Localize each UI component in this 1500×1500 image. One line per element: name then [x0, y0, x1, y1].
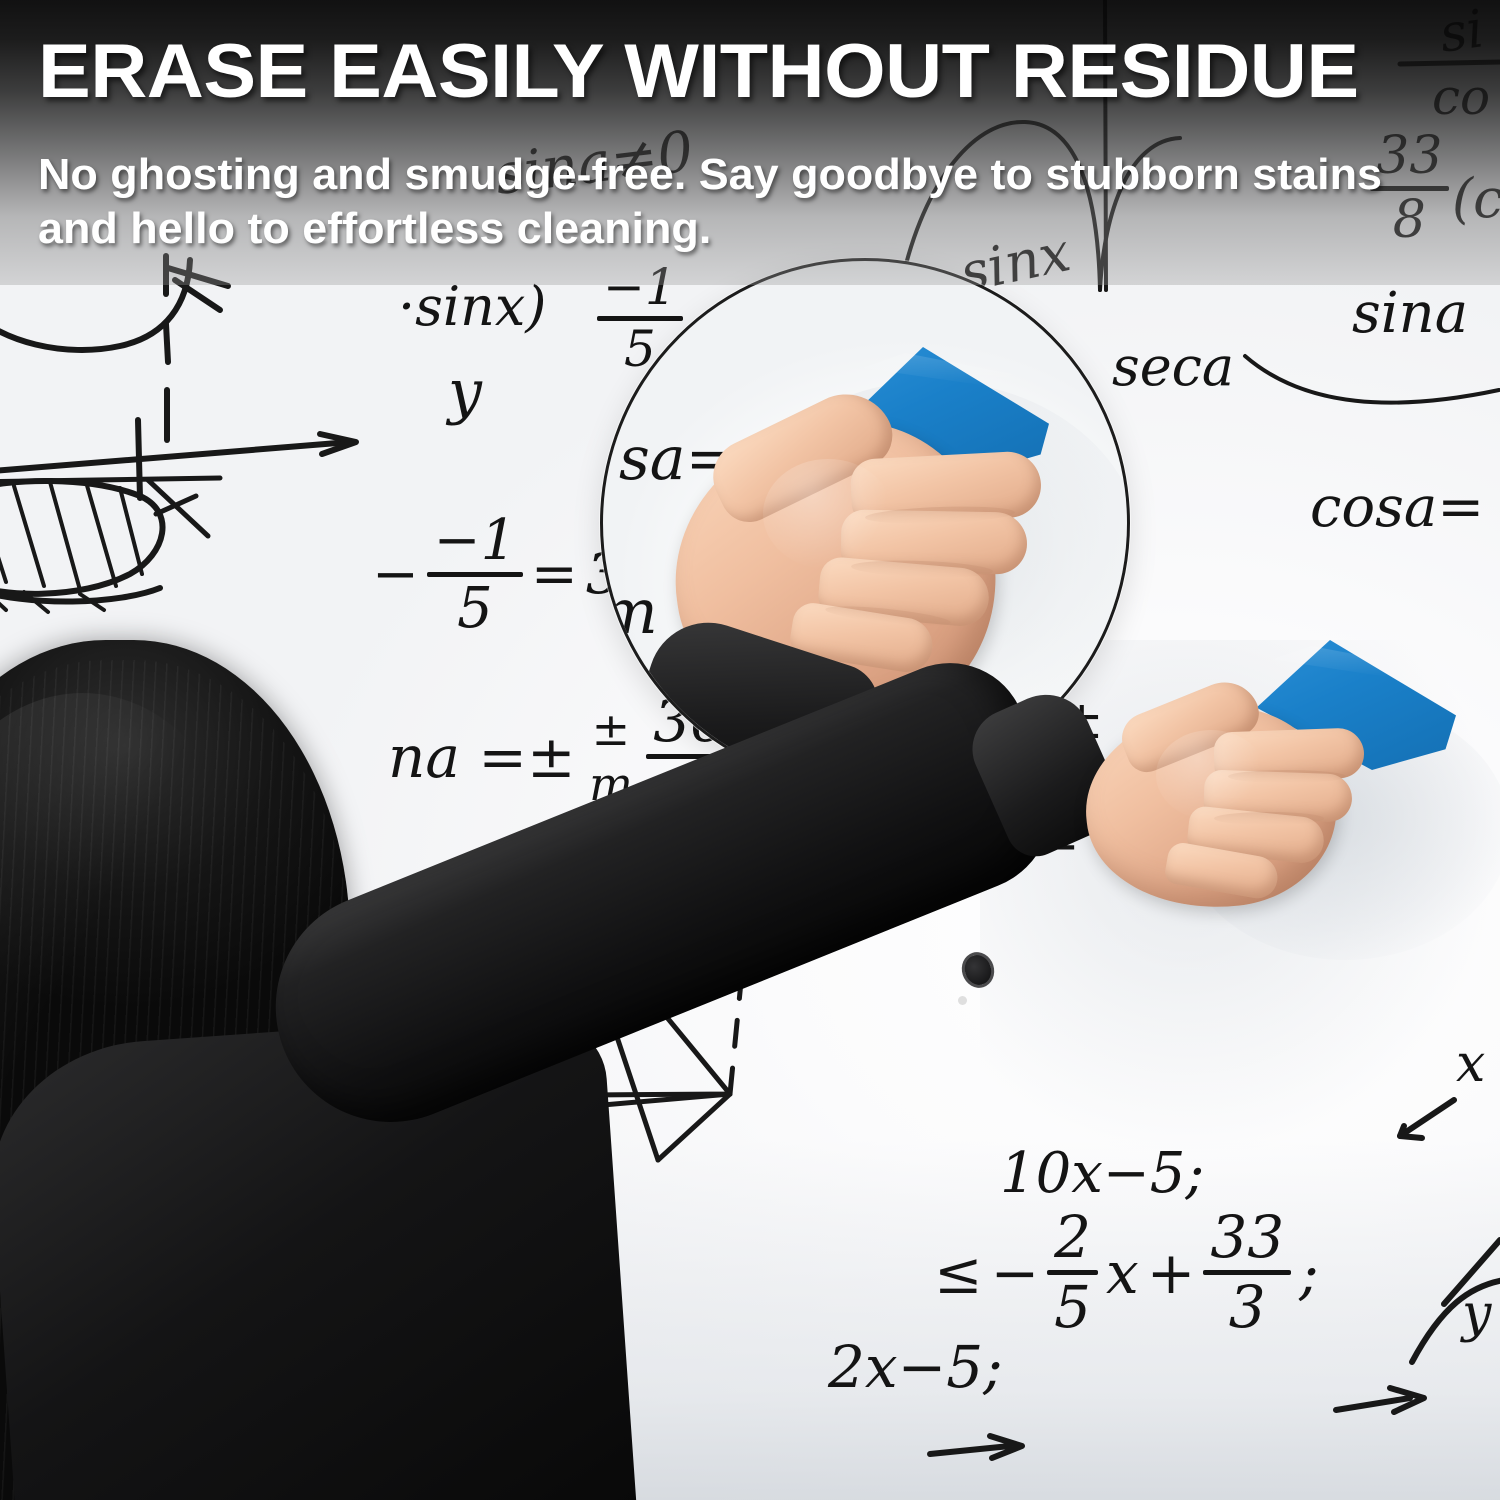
minus-sign: −: [991, 1244, 1040, 1302]
note-sinx-paren: ·sinx): [398, 280, 546, 334]
main-knuckle-highlight: [1156, 730, 1266, 820]
subheadline-text: No ghosting and smudge-free. Say goodbye…: [38, 148, 1466, 255]
sketch-arrow-bottom: [930, 1432, 1050, 1472]
fraction-numerator: −1: [427, 512, 523, 569]
semicolon: ;: [1299, 1244, 1319, 1302]
note-cosa-right: cosa=: [1310, 480, 1484, 536]
fraction-numerator: 2: [1047, 1208, 1098, 1267]
product-feature-image: sina≠0 sinx si co 33 8 (c sina cosa= ·si…: [0, 0, 1500, 1500]
plus-sign: +: [1147, 1244, 1196, 1302]
note-sina-right: sina: [1352, 286, 1468, 342]
fraction-33-over-3: 33 3: [1203, 1208, 1291, 1337]
note-x-axis-label: x: [1456, 1038, 1485, 1090]
equation-inequality: ≤ − 2 5 x + 33 3 ;: [934, 1208, 1319, 1337]
equals-sign: =: [531, 547, 578, 603]
inequality-relation: ≤: [934, 1244, 983, 1302]
magnified-knuckle-highlight: [763, 459, 893, 569]
note-10x-minus-5: 10x−5;: [1000, 1146, 1204, 1202]
fraction-numerator: 33: [1203, 1208, 1291, 1267]
variable-x: x: [1106, 1244, 1139, 1302]
note-2x-minus-5: 2x−5;: [828, 1338, 1003, 1396]
sketch-xy-graph-right: [1400, 1090, 1500, 1390]
minus-sign: −: [372, 547, 419, 603]
fraction-denominator: 5: [1047, 1278, 1098, 1337]
main-hand: [1096, 630, 1436, 910]
note-y-left: y: [448, 362, 482, 422]
person-erasing-board: [0, 600, 780, 1500]
note-y-axis-label: y: [1462, 1288, 1491, 1340]
sketch-curve-right-upper: [1245, 350, 1500, 430]
sketch-arrow-bottom-right: [1336, 1386, 1456, 1426]
fraction-denominator: 3: [1222, 1278, 1273, 1337]
sleeve-button-highlight-icon: [958, 996, 967, 1005]
note-seca: seca: [1112, 340, 1234, 394]
headline-text: ERASE EASILY WITHOUT RESIDUE: [38, 34, 1500, 110]
fraction-2-over-5: 2 5: [1047, 1208, 1098, 1337]
